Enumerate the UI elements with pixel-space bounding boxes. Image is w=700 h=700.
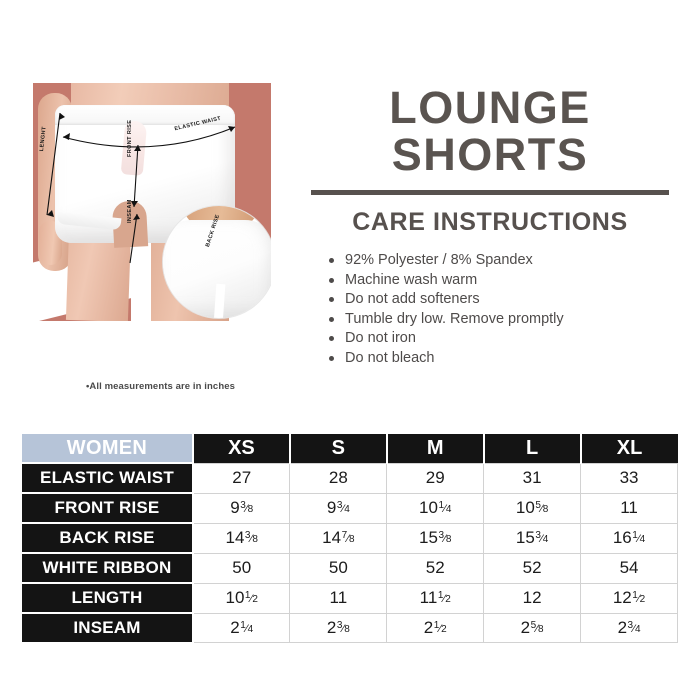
measurement-value-cell: 25⁄8 xyxy=(484,613,581,642)
size-column-header: M xyxy=(387,434,484,463)
bullet-icon xyxy=(329,336,334,341)
measurement-value-cell: 52 xyxy=(484,553,581,583)
table-row: FRONT RISE93⁄893⁄4101⁄4105⁄811 xyxy=(22,493,678,523)
title-block: LOUNGE SHORTS xyxy=(305,84,675,178)
measurement-value-cell: 31 xyxy=(484,463,581,493)
table-body: ELASTIC WAIST2728293133FRONT RISE93⁄893⁄… xyxy=(22,463,678,642)
measurement-value-cell: 105⁄8 xyxy=(484,493,581,523)
measurement-row-label: LENGTH xyxy=(22,583,193,613)
measurement-value-cell: 147⁄8 xyxy=(290,523,387,553)
measurement-value-cell: 111⁄2 xyxy=(387,583,484,613)
table-row: INSEAM21⁄423⁄821⁄225⁄823⁄4 xyxy=(22,613,678,642)
label-inseam: INSEAM xyxy=(127,199,133,223)
measurement-row-label: ELASTIC WAIST xyxy=(22,463,193,493)
front-rise-arrow xyxy=(134,145,138,207)
care-instruction-text: Do not iron xyxy=(345,330,416,346)
measurement-value-cell: 101⁄4 xyxy=(387,493,484,523)
bullet-icon xyxy=(329,317,334,322)
table-row: ELASTIC WAIST2728293133 xyxy=(22,463,678,493)
care-instruction-item: 92% Polyester / 8% Spandex xyxy=(327,251,675,271)
table-row: BACK RISE143⁄8147⁄8153⁄8153⁄4161⁄4 xyxy=(22,523,678,553)
care-instruction-text: Machine wash warm xyxy=(345,272,477,288)
table-row: LENGTH101⁄211111⁄212121⁄2 xyxy=(22,583,678,613)
care-instructions-list: 92% Polyester / 8% SpandexMachine wash w… xyxy=(327,251,675,368)
measurement-value-cell: 12 xyxy=(484,583,581,613)
measurement-value-cell: 143⁄8 xyxy=(193,523,290,553)
page-title-line2: SHORTS xyxy=(305,131,675,178)
title-divider xyxy=(311,190,669,195)
care-instruction-text: Tumble dry low. Remove promptly xyxy=(345,311,564,327)
measurement-value-cell: 27 xyxy=(193,463,290,493)
measurement-row-label: INSEAM xyxy=(22,613,193,642)
page-title-line1: LOUNGE xyxy=(305,84,675,131)
measurement-row-label: WHITE RIBBON xyxy=(22,553,193,583)
measurement-value-cell: 101⁄2 xyxy=(193,583,290,613)
measurement-value-cell: 121⁄2 xyxy=(581,583,678,613)
measurement-row-label: BACK RISE xyxy=(22,523,193,553)
table-header-row: WOMEN XSSMLXL xyxy=(22,434,678,463)
measurement-value-cell: 28 xyxy=(290,463,387,493)
size-column-header: XL xyxy=(581,434,678,463)
measurement-value-cell: 153⁄8 xyxy=(387,523,484,553)
care-instruction-text: Do not add softeners xyxy=(345,291,480,307)
size-chart-table: WOMEN XSSMLXL ELASTIC WAIST2728293133FRO… xyxy=(22,434,678,643)
table-row: WHITE RIBBON5050525254 xyxy=(22,553,678,583)
measurement-value-cell: 161⁄4 xyxy=(581,523,678,553)
measurement-value-cell: 11 xyxy=(581,493,678,523)
info-panel: LOUNGE SHORTS CARE INSTRUCTIONS 92% Poly… xyxy=(305,84,675,368)
top-section: ELASTIC WAIST LENGHT FRONT RISE INSEAM B… xyxy=(0,0,700,418)
length-arrow xyxy=(47,113,60,215)
care-instruction-text: 92% Polyester / 8% Spandex xyxy=(345,252,533,268)
measurement-row-label: FRONT RISE xyxy=(22,493,193,523)
measurement-value-cell: 50 xyxy=(290,553,387,583)
bullet-icon xyxy=(329,356,334,361)
care-instruction-item: Do not iron xyxy=(327,329,675,349)
measurement-value-cell: 50 xyxy=(193,553,290,583)
label-front-rise: FRONT RISE xyxy=(127,120,133,157)
measurement-value-cell: 93⁄4 xyxy=(290,493,387,523)
measurement-value-cell: 52 xyxy=(387,553,484,583)
measurements-footnote: •All measurements are in inches xyxy=(86,381,235,392)
care-instructions-heading: CARE INSTRUCTIONS xyxy=(305,208,675,237)
care-instruction-text: Do not bleach xyxy=(345,350,434,366)
size-column-header: L xyxy=(484,434,581,463)
care-instruction-item: Machine wash warm xyxy=(327,271,675,291)
table-corner-women: WOMEN xyxy=(22,434,193,463)
elastic-waist-arrow xyxy=(63,127,235,147)
product-photo: ELASTIC WAIST LENGHT FRONT RISE INSEAM B… xyxy=(33,83,271,321)
measurement-value-cell: 33 xyxy=(581,463,678,493)
bullet-icon xyxy=(329,278,334,283)
measurement-value-cell: 54 xyxy=(581,553,678,583)
size-column-header: S xyxy=(290,434,387,463)
measurement-value-cell: 23⁄4 xyxy=(581,613,678,642)
measurement-value-cell: 93⁄8 xyxy=(193,493,290,523)
measurement-value-cell: 21⁄4 xyxy=(193,613,290,642)
size-column-header: XS xyxy=(193,434,290,463)
measurement-value-cell: 29 xyxy=(387,463,484,493)
measurement-value-cell: 153⁄4 xyxy=(484,523,581,553)
care-instruction-item: Do not add softeners xyxy=(327,290,675,310)
bullet-icon xyxy=(329,258,334,263)
care-instruction-item: Tumble dry low. Remove promptly xyxy=(327,310,675,330)
bullet-icon xyxy=(329,297,334,302)
measurement-value-cell: 21⁄2 xyxy=(387,613,484,642)
measurement-value-cell: 11 xyxy=(290,583,387,613)
care-instruction-item: Do not bleach xyxy=(327,349,675,369)
measurement-value-cell: 23⁄8 xyxy=(290,613,387,642)
